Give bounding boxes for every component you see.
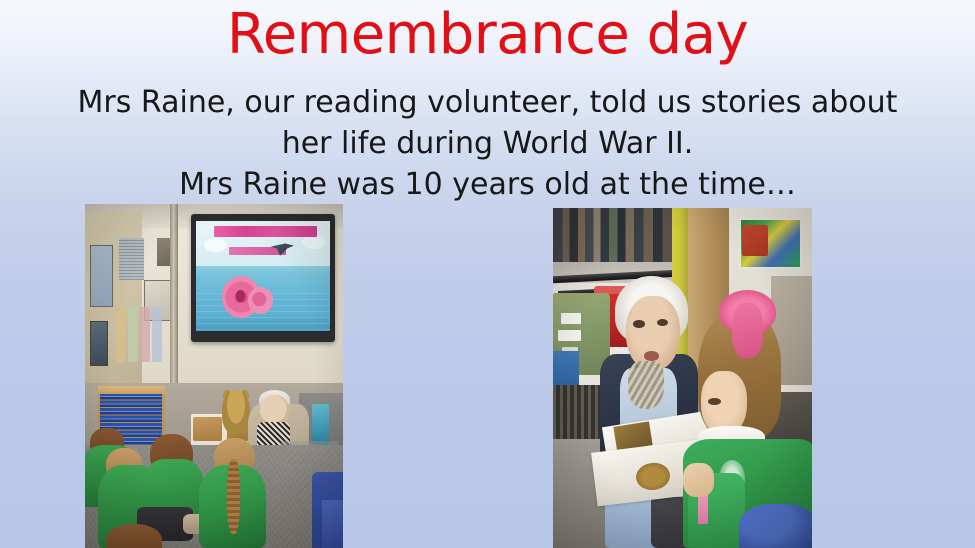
folding-chair <box>281 441 338 530</box>
slide-body-text: Mrs Raine, our reading volunteer, told u… <box>30 82 945 205</box>
smartboard-cloud-icon <box>204 238 227 252</box>
photo-reading <box>553 208 812 548</box>
childrens-artwork <box>739 218 801 269</box>
storage-blue-trays <box>100 393 162 465</box>
volunteer-eye <box>657 319 669 326</box>
pupil-hand <box>683 463 714 497</box>
smartboard-poppy-icon <box>248 287 274 315</box>
volunteer-lap <box>605 466 672 548</box>
pupil-green-jumper <box>683 439 813 548</box>
smartboard-sky <box>196 221 330 266</box>
coat-rail <box>553 269 677 283</box>
red-crate-rim <box>594 286 656 294</box>
classroom-display-cards <box>116 307 162 362</box>
pupil-hair <box>698 310 781 439</box>
classroom-framed-notice <box>144 280 172 321</box>
child-head <box>106 524 163 548</box>
volunteer-mouth <box>644 351 660 361</box>
smartboard-plane-icon <box>271 238 294 255</box>
metal-grate <box>553 385 631 460</box>
childrens-artwork <box>742 225 768 256</box>
volunteer-face <box>626 296 680 371</box>
red-crate <box>594 286 656 347</box>
child-green-jumper <box>98 465 160 548</box>
classroom-window <box>90 245 113 307</box>
volunteer-white-hair <box>615 276 688 344</box>
child-green-jumper <box>142 459 204 535</box>
classroom-shelf-unit <box>191 414 258 476</box>
yellow-door-frame <box>672 208 688 398</box>
classroom-bag <box>312 452 343 514</box>
smartboard-cloud-icon <box>302 235 325 249</box>
child-head <box>150 434 194 475</box>
blue-stool <box>739 504 812 548</box>
folding-chair-leg <box>303 445 314 528</box>
volunteer-hand <box>646 456 693 497</box>
child-head <box>214 438 255 479</box>
blue-classroom-chair <box>312 472 343 548</box>
storage-unit-top <box>98 386 165 394</box>
smartboard-ground <box>196 311 330 332</box>
open-book-upper-page <box>602 411 712 474</box>
classroom-clutter <box>299 393 343 476</box>
classroom-wall-right <box>729 208 812 398</box>
teddy-bear <box>222 390 250 435</box>
blue-container <box>553 351 579 392</box>
child-legs <box>137 507 194 541</box>
child-green-jumper <box>199 465 266 548</box>
water-bottle <box>312 404 329 445</box>
photo-vignette <box>553 208 812 548</box>
teddy-bear-ear <box>240 390 249 402</box>
body-line-1: Mrs Raine, our reading volunteer, told u… <box>30 82 945 123</box>
classroom-ceiling <box>85 204 343 228</box>
body-line-2: her life during World War II. <box>30 123 945 164</box>
wicker-basket <box>193 417 221 441</box>
volunteer-scarf <box>628 361 664 409</box>
folding-chair-leg <box>272 448 284 524</box>
volunteer-eye <box>633 320 645 327</box>
smartboard-frame <box>191 214 335 341</box>
green-tote-bag <box>553 293 610 375</box>
pupil-face <box>701 371 748 436</box>
volunteer-patterned-top <box>257 422 291 456</box>
presentation-slide: Remembrance day Mrs Raine, our reading v… <box>0 0 975 548</box>
classroom-pipe <box>170 204 178 390</box>
classroom-shelf-edge <box>191 445 258 449</box>
book-illustration <box>634 461 671 492</box>
tote-bag-lettering <box>562 347 578 353</box>
school-wall <box>553 208 812 398</box>
tote-bag-lettering <box>558 330 581 341</box>
school-logo-badge <box>719 460 745 497</box>
classroom-window-blind <box>119 238 145 279</box>
volunteer-blue-shirt <box>620 368 677 470</box>
storage-unit <box>98 390 165 473</box>
corridor-background <box>553 208 672 283</box>
coat-rail <box>558 285 675 297</box>
tote-bag-lettering <box>561 313 582 324</box>
carpet-texture <box>85 445 343 548</box>
pupil-arm <box>688 473 745 548</box>
storage-cabinet <box>771 276 812 385</box>
pink-pen <box>698 477 708 525</box>
volunteer-face <box>260 395 288 428</box>
child-braided-hair <box>227 459 240 535</box>
background-shadow <box>765 392 812 467</box>
volunteer-skirt <box>651 480 713 548</box>
child-white-top <box>106 476 147 524</box>
pupil-white-collar <box>698 426 765 453</box>
wooden-door <box>688 208 729 398</box>
volunteer-navy-jacket <box>600 354 698 483</box>
pupil-eye <box>708 398 721 405</box>
smartboard-poppy-centre <box>236 290 245 302</box>
body-line-3: Mrs Raine was 10 years old at the time… <box>30 164 945 205</box>
photo-vignette <box>85 204 343 548</box>
pink-hair-bow <box>719 290 776 334</box>
book-illustration <box>614 421 654 450</box>
smartboard-title-text <box>214 226 317 237</box>
smartboard-texture <box>196 293 330 331</box>
child-head <box>106 448 142 482</box>
volunteer-hair <box>259 390 290 409</box>
child-green-jumper <box>85 445 137 507</box>
classroom-back-wall <box>85 204 343 404</box>
child-shoe <box>183 514 206 535</box>
smartboard-subtitle-text <box>229 247 286 255</box>
floor <box>553 439 662 548</box>
coat-pegs-row <box>553 208 672 262</box>
volunteer-coat <box>248 404 310 493</box>
child-head <box>90 428 124 459</box>
classroom-wall-poster <box>90 321 108 366</box>
classroom-wall-box <box>157 238 178 266</box>
classroom-side-wall <box>85 211 142 404</box>
photo-classroom <box>85 204 343 548</box>
smartboard-poppy-icon <box>222 276 261 317</box>
open-book-lower-page <box>592 440 707 507</box>
pink-hair-bow-tail <box>732 303 763 357</box>
blue-classroom-chair <box>322 500 343 548</box>
slide-title: Remembrance day <box>0 4 975 66</box>
classroom-floor-back <box>85 383 343 452</box>
wicker-basket <box>196 448 219 469</box>
teddy-bear-ear <box>223 390 232 402</box>
classroom-carpet <box>85 445 343 548</box>
wicker-basket <box>227 421 253 442</box>
volunteer-legs <box>219 479 286 527</box>
smartboard-screen <box>196 221 330 331</box>
